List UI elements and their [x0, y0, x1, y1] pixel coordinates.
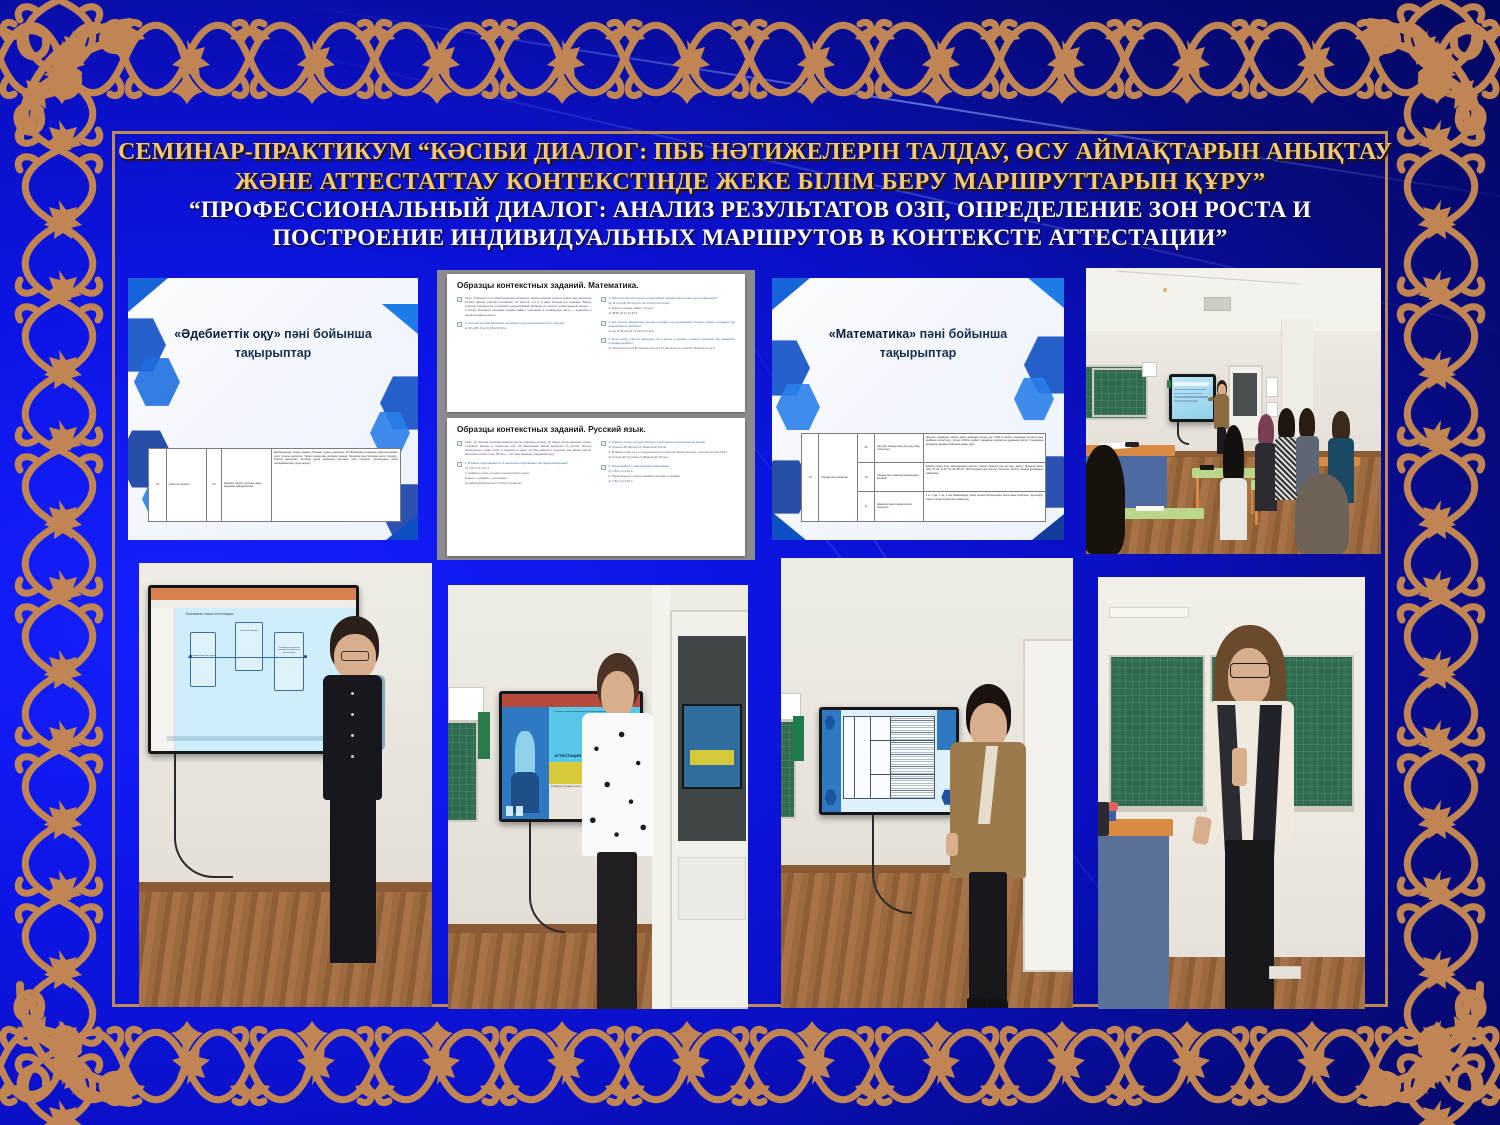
task-question: 2. Какое количество целых декоративных с… [609, 296, 717, 300]
table-row: 10 Сандар мен шамалар арасындағы қатынас… [858, 463, 1045, 492]
slide-heading-line2: тақырыптар [795, 344, 1040, 363]
bullet-icon [457, 441, 462, 446]
photo-presenter-attestation-2025[interactable]: Условия и сроки проведения аттестации пе… [448, 585, 748, 1009]
task-answers: A) 48 B) 24 C) 12 D) 6 [609, 311, 717, 315]
task-answers: A) Прыгать B) Звучать C) Вывела D) Росли [609, 445, 727, 449]
panel-indicator [1167, 380, 1171, 389]
door [670, 610, 748, 1009]
task-answers: A) 1 B) 2 C) 3 D) 4 [609, 479, 680, 483]
wall-banner [793, 716, 805, 761]
row-description: Көбейту және бөлу амалдарының қатысы; Са… [924, 463, 1046, 491]
wall-banner [478, 712, 490, 759]
door [1023, 639, 1073, 972]
shoe [988, 998, 1008, 1008]
slide-mathematics[interactable]: «Математика» пәні бойынша тақырыптар 03 … [772, 278, 1064, 540]
photo-presenter-attestation-stages[interactable]: Основные этапы аттестации Квалификационн… [139, 563, 432, 1007]
ornament-border-left [0, 0, 118, 1125]
ceiling-light [1109, 607, 1189, 618]
slide-heading-subject: «Әдебиеттік оқу» [174, 327, 281, 341]
task-answers: A) На 12 B) На 24 C) На 0 D) На 6 [609, 329, 736, 333]
bullet-icon [601, 338, 606, 343]
task-question: 1. В каком предложении есть несколько по… [465, 461, 568, 465]
slide-heading-rest: пәні бойынша [916, 327, 1007, 341]
table-cell-num: 03 [802, 434, 819, 521]
flow-node-2: Оценочный процесс [235, 630, 264, 632]
paper-sheet [1136, 506, 1164, 511]
title-line-kz-2: ЖӘНЕ АТТЕСТАТТАУ КОНТЕКСТІНДЕ ЖЕКЕ БІЛІМ… [118, 167, 1382, 196]
app-menubar [151, 600, 356, 608]
participant-foreground [1086, 445, 1127, 554]
participant-seated [1219, 425, 1249, 539]
task-answers: A) 12 штук B) 36 штук C) 10 штук D) 24 ш… [609, 301, 717, 305]
task-question: 4. В каком слове из 1-го предложения кол… [609, 450, 727, 454]
doc-math: Образцы контекстных заданий. Математика.… [447, 274, 745, 412]
title-line-ru-1: “ПРОФЕССИОНАЛЬНЫЙ ДИАЛОГ: АНАЛИЗ РЕЗУЛЬТ… [118, 196, 1382, 224]
panel-cable [174, 754, 233, 878]
table-cell-theme: Тарих беттерінен [167, 449, 207, 520]
desk-device [1125, 442, 1138, 447]
bullet-icon [457, 462, 462, 467]
slide-literary-reading[interactable]: «Әдебиеттік оқу» пәні бойынша тақырыптар… [128, 278, 418, 540]
poster-canvas: СЕМИНАР-ПРАКТИКУМ “КӘСІБИ ДИАЛОГ: ПББ НӘ… [0, 0, 1500, 1125]
task-question: 5. Если длину участка увеличить на 2 мет… [609, 337, 736, 345]
slide-heading-rest: пәні бойынша [281, 327, 372, 341]
student-desk [1121, 508, 1204, 554]
tablet [1200, 465, 1214, 469]
ornament-corner-bottom-left [0, 975, 150, 1125]
row-num: 09 [858, 434, 875, 462]
wall-poster [1142, 362, 1157, 376]
bullet-icon [457, 297, 462, 302]
table-cell-description: Дереккөздерді талдау арқылы Тоныкөк тура… [272, 449, 400, 520]
bullet-icon [601, 441, 606, 446]
row-description: 1 м, 1 дм, 1 см, 1 мм; Шамаларды үлкен ө… [924, 492, 1046, 520]
table-cell-theme: Сандар мен шамалар [819, 434, 858, 521]
doc-russian: Образцы контекстных заданий. Русский язы… [447, 418, 745, 556]
chalkboard [1109, 655, 1205, 811]
task-answers: A) 32 м B) 16 м C) 48 м D) 36 м [465, 326, 565, 330]
title-line-kz-1: СЕМИНАР-ПРАКТИКУМ “КӘСІБИ ДИАЛОГ: ПББ НӘ… [118, 138, 1382, 167]
participant-foreground [1293, 474, 1352, 554]
table-cell-subtheme: Көрнекті тарихи тұлғалар және мәдениет қ… [222, 449, 272, 520]
task-question: 5. Предложение с однородными сказуемыми [609, 464, 670, 468]
ornament-corner-top-right [1350, 0, 1500, 150]
ornament-border-bottom [0, 1007, 1500, 1125]
doc-column-left: Текст. Учащиеся 4-го класса решили огоро… [457, 296, 592, 354]
chalkboard [448, 721, 478, 823]
photo-presenter-table-slide[interactable] [781, 558, 1073, 1008]
task-schema: корень + суффикс + окончание. [465, 476, 568, 480]
ceiling-lamp [1163, 288, 1167, 292]
slide-heading: «Математика» пәні бойынша тақырыптар [795, 325, 1040, 363]
hand [1192, 816, 1213, 845]
table-row: 11 Шамалар мен оларды өлшеу бірліктері 1… [858, 492, 1045, 520]
bullet-icon [601, 465, 606, 470]
photo-presenter-chalkboard[interactable] [1098, 577, 1365, 1009]
presenter [1205, 625, 1296, 1009]
table-rows: 09 Натурал сандар және 0-ді оқу, жазу, с… [858, 434, 1045, 521]
task-answers: A) 1 B) 2 C) 3 D) 4 [465, 466, 568, 470]
panel-cable [529, 822, 565, 932]
title-line-ru-2: ПОСТРОЕНИЕ ИНДИВИДУАЛЬНЫХ МАРШРУТОВ В КО… [118, 224, 1382, 252]
floor-object [1269, 966, 1301, 979]
shoe [967, 998, 987, 1008]
doc-heading: Образцы контекстных заданий. Русский язы… [457, 425, 735, 434]
task-answers: A) Зайчик B) Выскочил C) Кочку D) Звонко [465, 481, 568, 485]
ornament-border-top [0, 0, 1500, 118]
doc-column-left: Текст. (1) Лесная тропинка вывела нас на… [457, 440, 592, 489]
task-answers: A) Лесная B) Тропинка C) Вывела D) Полян… [609, 455, 727, 459]
chalkboard-panel [1092, 368, 1148, 417]
screen-slide-title: Основные этапы аттестации [182, 609, 238, 616]
task-question: 4. На сколько квадратных метров площадь … [609, 320, 736, 328]
task-answers: A) 1 B) 2 C) 3 D) 4 [609, 469, 680, 473]
topic-table: 03 Тарих беттерінен 09 Көрнекті тарихи т… [148, 448, 400, 521]
wall-paper [1266, 377, 1278, 397]
ornament-corner-bottom-right [1350, 975, 1500, 1125]
app-titlebar [151, 588, 356, 599]
eyeglasses [341, 651, 369, 661]
row-subtheme: Сандар мен шамалар арасындағы қатынас [875, 463, 924, 491]
doc-column-right: 3. Укажите слово, которое является глаго… [601, 440, 736, 489]
flow-node-3: Комплексное внешнее оценивание результат… [274, 647, 305, 654]
task-text: Текст. (1) Лесная тропинка вывела нас на… [465, 440, 592, 456]
photo-classroom-audience[interactable] [1086, 268, 1381, 554]
teacher-desk [1098, 819, 1173, 1009]
slide-heading: «Әдебиеттік оқу» пәні бойынша тақырыптар [151, 325, 395, 363]
table-cell-num2: 09 [207, 449, 222, 520]
row-subtheme: Шамалар мен оларды өлшеу бірліктері [875, 492, 924, 520]
task-question: 2. Найдите слово, которое соответствует … [465, 471, 568, 475]
ornament-corner-top-left [0, 0, 150, 150]
task-question: 3. Какую площадь займут пионы? [609, 306, 717, 310]
row-num: 10 [858, 463, 875, 491]
bullet-icon [601, 321, 606, 326]
screen-left-art [502, 707, 549, 820]
table-cell-num: 03 [149, 449, 167, 520]
secondary-panel [682, 704, 742, 789]
eyeglasses [1230, 663, 1270, 678]
poster-title: СЕМИНАР-ПРАКТИКУМ “КӘСІБИ ДИАЛОГ: ПББ НӘ… [118, 138, 1382, 253]
chair [1098, 802, 1109, 837]
slide-heading-subject: «Математика» [829, 327, 916, 341]
interactive-panel[interactable] [819, 707, 959, 815]
task-question: 1. Сколько метров заборчика потребуется … [465, 321, 565, 325]
row-num: 11 [858, 492, 875, 520]
presenter [580, 653, 655, 1009]
row-subtheme: Натурал сандар және 0-ді оқу, жазу, салы… [875, 434, 924, 462]
task-question: 6. Предложение с двумя грамматическими о… [609, 474, 680, 478]
slide-contextual-tasks[interactable]: Образцы контекстных заданий. Математика.… [437, 270, 755, 560]
slide-thumbnail-pane[interactable] [151, 608, 176, 751]
ceiling-vent [1204, 297, 1231, 311]
row-description: Натурал сандарды сөзбен және цифрмен жаз… [924, 434, 1046, 462]
topic-table: 03 Сандар мен шамалар 09 Натурал сандар … [801, 433, 1046, 522]
task-answers: A) Увеличится на 8 B) Увеличится на 2 C)… [609, 346, 736, 350]
bullet-icon [457, 322, 462, 327]
task-question: 3. Укажите слово, которое является глаго… [609, 440, 706, 444]
table-row: 09 Натурал сандар және 0-ді оқу, жазу, с… [858, 434, 1045, 463]
presenter [315, 616, 397, 962]
flow-node-1: Квалификационная оценка [190, 655, 217, 657]
ornament-border-right [1382, 0, 1500, 1125]
bullet-icon [601, 297, 606, 302]
task-text: Текст. Учащиеся 4-го класса решили огоро… [465, 296, 592, 317]
presenter [950, 684, 1026, 1008]
hand [1232, 748, 1247, 786]
doc-heading: Образцы контекстных заданий. Математика. [457, 281, 735, 290]
slide-heading-line2: тақырыптар [151, 344, 395, 363]
doc-column-right: 2. Какое количество целых декоративных с… [601, 296, 736, 354]
